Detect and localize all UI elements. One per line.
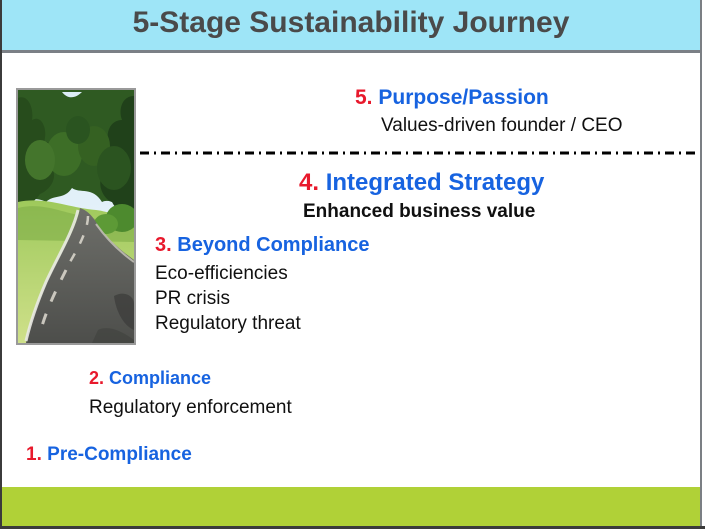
stage-2-details: Regulatory enforcement — [89, 395, 292, 420]
page-title: 5-Stage Sustainability Journey — [2, 6, 700, 40]
stage-5-number: 5. — [355, 86, 373, 109]
stage-3-details: Eco-efficiencies PR crisis Regulatory th… — [155, 261, 301, 336]
stage-2-heading: 2. Compliance — [89, 368, 211, 389]
stage-2-detail-line: Regulatory enforcement — [89, 395, 292, 420]
stage-5-details: Values-driven founder / CEO — [381, 113, 623, 138]
stage-4-detail-line: Enhanced business value — [303, 199, 535, 224]
stage-2-name: Compliance — [109, 368, 211, 388]
frame-border-left — [0, 0, 2, 529]
stage-3-number: 3. — [155, 234, 172, 256]
stage-4-details: Enhanced business value — [303, 199, 535, 224]
stage-3-heading: 3. Beyond Compliance — [155, 234, 370, 257]
footer-band — [2, 487, 700, 526]
stage-5-name: Purpose/Passion — [378, 86, 548, 109]
stage-1-heading: 1. Pre-Compliance — [26, 444, 192, 466]
stage-1-name: Pre-Compliance — [47, 444, 192, 465]
stage-3-name: Beyond Compliance — [177, 234, 369, 256]
road-photo-graphic — [18, 90, 134, 343]
stage-4-name: Integrated Strategy — [326, 169, 545, 196]
frame-border-right — [700, 0, 702, 529]
slide-canvas: 5-Stage Sustainability Journey — [0, 0, 705, 529]
stage-5-heading: 5. Purpose/Passion — [355, 86, 549, 110]
stage-divider-line — [140, 151, 698, 155]
dash-dot-line-icon — [140, 151, 698, 155]
stage-3-detail-line: Regulatory threat — [155, 311, 301, 336]
stage-3-detail-line: Eco-efficiencies — [155, 261, 301, 286]
road-through-forest-photo — [16, 88, 136, 345]
stage-3-detail-line: PR crisis — [155, 286, 301, 311]
stage-4-number: 4. — [299, 169, 319, 196]
stage-5-detail-line: Values-driven founder / CEO — [381, 113, 623, 138]
stage-1-number: 1. — [26, 444, 42, 465]
stage-2-number: 2. — [89, 368, 104, 388]
stage-4-heading: 4. Integrated Strategy — [299, 169, 544, 197]
